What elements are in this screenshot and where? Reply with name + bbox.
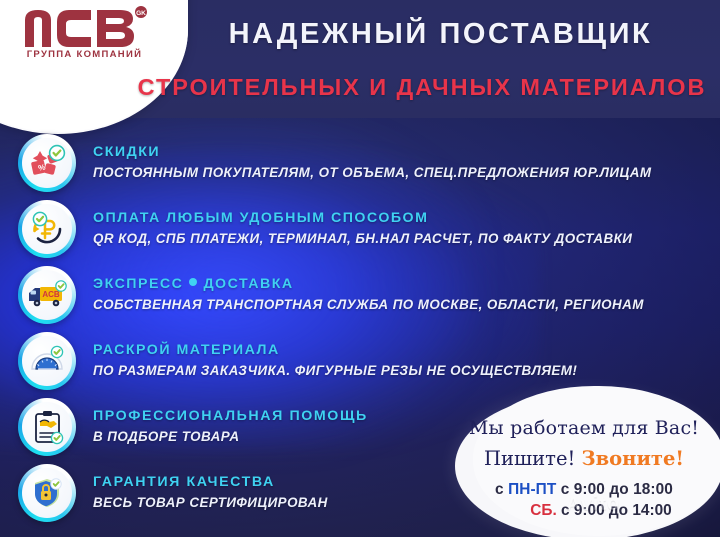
feature-subtitle: ВЕСЬ ТОВАР СЕРТИФИЦИРОВАН	[93, 495, 328, 512]
feature-title-part1: ЭКСПРЕСС	[93, 276, 183, 292]
clipboard-handshake-icon	[16, 397, 80, 457]
feature-title: ПРОФЕССИОНАЛЬНАЯ ПОМОЩЬ	[93, 408, 368, 426]
feature-subtitle: В ПОДБОРЕ ТОВАРА	[93, 429, 368, 446]
feature-text: ПРОФЕССИОНАЛЬНАЯ ПОМОЩЬ В ПОДБОРЕ ТОВАРА	[93, 408, 368, 446]
shield-lock-icon	[16, 463, 80, 523]
hours-weekday: с ПН-ПТ с 9:00 до 18:00	[455, 481, 713, 499]
hours-weekday-time: с 9:00 до 18:00	[556, 481, 673, 498]
headline-secondary: СТРОИТЕЛЬНЫХ И ДАЧНЫХ МАТЕРИАЛОВ	[128, 74, 716, 101]
feature-subtitle: ПО РАЗМЕРАМ ЗАКАЗЧИКА. ФИГУРНЫЕ РЕЗЫ НЕ …	[93, 363, 577, 380]
company-logo: GK ГРУППА КОМПАНИЙ	[12, 6, 157, 68]
feature-subtitle: QR КОД, СПБ ПЛАТЕЖИ, ТЕРМИНАЛ, БН.НАЛ РА…	[93, 231, 632, 248]
feature-row-payment: ОПЛАТА ЛЮБЫМ УДОБНЫМ СПОСОБОМ QR КОД, СП…	[0, 196, 720, 262]
feature-text: РАСКРОЙ МАТЕРИАЛА ПО РАЗМЕРАМ ЗАКАЗЧИКА.…	[93, 342, 577, 380]
callout-call-label: Звоните!	[582, 447, 684, 470]
feature-row-discounts: % СКИДКИ ПОСТОЯННЫМ ПОКУПАТЕЛЯМ, ОТ ОБЪЕ…	[0, 130, 720, 196]
callout-line-1: Мы работаем для Вас!	[455, 417, 713, 439]
feature-subtitle: СОБСТВЕННАЯ ТРАНСПОРТНАЯ СЛУЖБА ПО МОСКВ…	[93, 297, 644, 314]
protractor-cutting-icon	[16, 331, 80, 391]
ruble-payment-icon	[16, 199, 80, 259]
discount-tags-icon: %	[16, 133, 80, 193]
working-hours-callout: Мы работаем для Вас! Пишите! Звоните! с …	[455, 392, 720, 537]
callout-line-2: Пишите! Звоните!	[455, 447, 713, 470]
feature-text: ЭКСПРЕССДОСТАВКА СОБСТВЕННАЯ ТРАНСПОРТНА…	[93, 276, 644, 314]
callout-content: Мы работаем для Вас! Пишите! Звоните! с …	[455, 392, 713, 520]
headline-primary: НАДЕЖНЫЙ ПОСТАВЩИК	[168, 18, 713, 51]
hours-saturday-time: с 9:00 до 14:00	[557, 502, 672, 519]
svg-text:GK: GK	[136, 10, 146, 17]
hours-saturday: СБ. с 9:00 до 14:00	[455, 502, 713, 520]
callout-write-label: Пишите!	[484, 447, 575, 470]
feature-title-part2: ДОСТАВКА	[203, 276, 293, 292]
acb-logo-icon: GK	[21, 6, 149, 48]
svg-text:ACB: ACB	[42, 290, 60, 299]
feature-text: ОПЛАТА ЛЮБЫМ УДОБНЫМ СПОСОБОМ QR КОД, СП…	[93, 210, 632, 248]
feature-text: СКИДКИ ПОСТОЯННЫМ ПОКУПАТЕЛЯМ, ОТ ОБЪЕМА…	[93, 144, 651, 182]
separator-dot-icon	[189, 278, 197, 286]
feature-title: ОПЛАТА ЛЮБЫМ УДОБНЫМ СПОСОБОМ	[93, 210, 632, 228]
feature-row-delivery: ACB ЭКСПРЕССДОСТАВКА СОБСТВЕННАЯ ТРАНСПО…	[0, 262, 720, 328]
feature-title: ГАРАНТИЯ КАЧЕСТВА	[93, 474, 328, 492]
hours-weekday-days: ПН-ПТ	[508, 481, 556, 498]
hours-saturday-days: СБ.	[530, 502, 556, 519]
feature-title: СКИДКИ	[93, 144, 651, 162]
delivery-truck-icon: ACB	[16, 265, 80, 325]
feature-row-cutting: РАСКРОЙ МАТЕРИАЛА ПО РАЗМЕРАМ ЗАКАЗЧИКА.…	[0, 328, 720, 394]
feature-title: ЭКСПРЕССДОСТАВКА	[93, 276, 644, 294]
logo-subtitle: ГРУППА КОМПАНИЙ	[12, 49, 157, 60]
hours-weekday-prefix: с	[495, 481, 508, 498]
svg-text:%: %	[37, 163, 46, 173]
feature-text: ГАРАНТИЯ КАЧЕСТВА ВЕСЬ ТОВАР СЕРТИФИЦИРО…	[93, 474, 328, 512]
feature-title: РАСКРОЙ МАТЕРИАЛА	[93, 342, 577, 360]
promo-banner: GK ГРУППА КОМПАНИЙ НАДЕЖНЫЙ ПОСТАВЩИК СТ…	[0, 0, 720, 537]
feature-subtitle: ПОСТОЯННЫМ ПОКУПАТЕЛЯМ, ОТ ОБЪЕМА, СПЕЦ.…	[93, 165, 651, 182]
logo-mark: GK	[12, 6, 157, 48]
